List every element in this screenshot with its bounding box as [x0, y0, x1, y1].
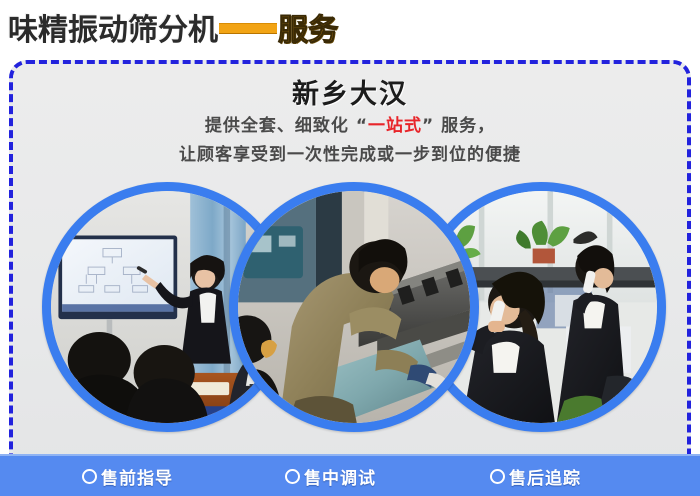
service-stage-insale: 售中调试 — [285, 464, 376, 489]
panel-inner: 新乡大汉 提供全套、细致化 “一站式” 服务， 让顾客享受到一次性完成或一步到位… — [13, 64, 687, 480]
photo-workshop-bending-image — [238, 191, 470, 423]
service-stage-aftersale-label: 售后追踪 — [509, 469, 581, 489]
service-stage-bar: 售前指导 售中调试 售后追踪 — [0, 454, 700, 496]
panel-subline-2: 让顾客享受到一次性完成或一步到位的便捷 — [13, 140, 687, 165]
circle-outline-icon — [82, 469, 97, 484]
panel-subline-1: 提供全套、细致化 “一站式” 服务， — [13, 111, 687, 136]
service-stage-presale: 售前指导 — [82, 464, 173, 489]
photo-workshop-bending — [229, 182, 479, 432]
circle-outline-icon — [285, 469, 300, 484]
service-stage-aftersale: 售后追踪 — [490, 464, 581, 489]
service-promo-banner: 味精振动筛分机 服务 新乡大汉 提供全套、细致化 “一站式” 服务， 让顾客享受… — [0, 0, 700, 496]
subline-1-highlight: 一站式 — [368, 116, 422, 136]
subline-1-after: ” 服务， — [422, 116, 495, 136]
panel-headline: 新乡大汉 — [13, 72, 687, 111]
service-stage-presale-label: 售前指导 — [101, 469, 173, 489]
banner-title-accent: 服务 — [278, 16, 338, 46]
title-dash-icon — [219, 23, 277, 34]
banner-title-main: 味精振动筛分机 — [8, 16, 218, 46]
service-stage-insale-label: 售中调试 — [304, 469, 376, 489]
dashed-panel: 新乡大汉 提供全套、细致化 “一站式” 服务， 让顾客享受到一次性完成或一步到位… — [9, 60, 691, 484]
banner-title: 味精振动筛分机 服务 — [0, 8, 700, 54]
circle-outline-icon — [490, 469, 505, 484]
subline-1-before: 提供全套、细致化 “ — [205, 116, 368, 136]
